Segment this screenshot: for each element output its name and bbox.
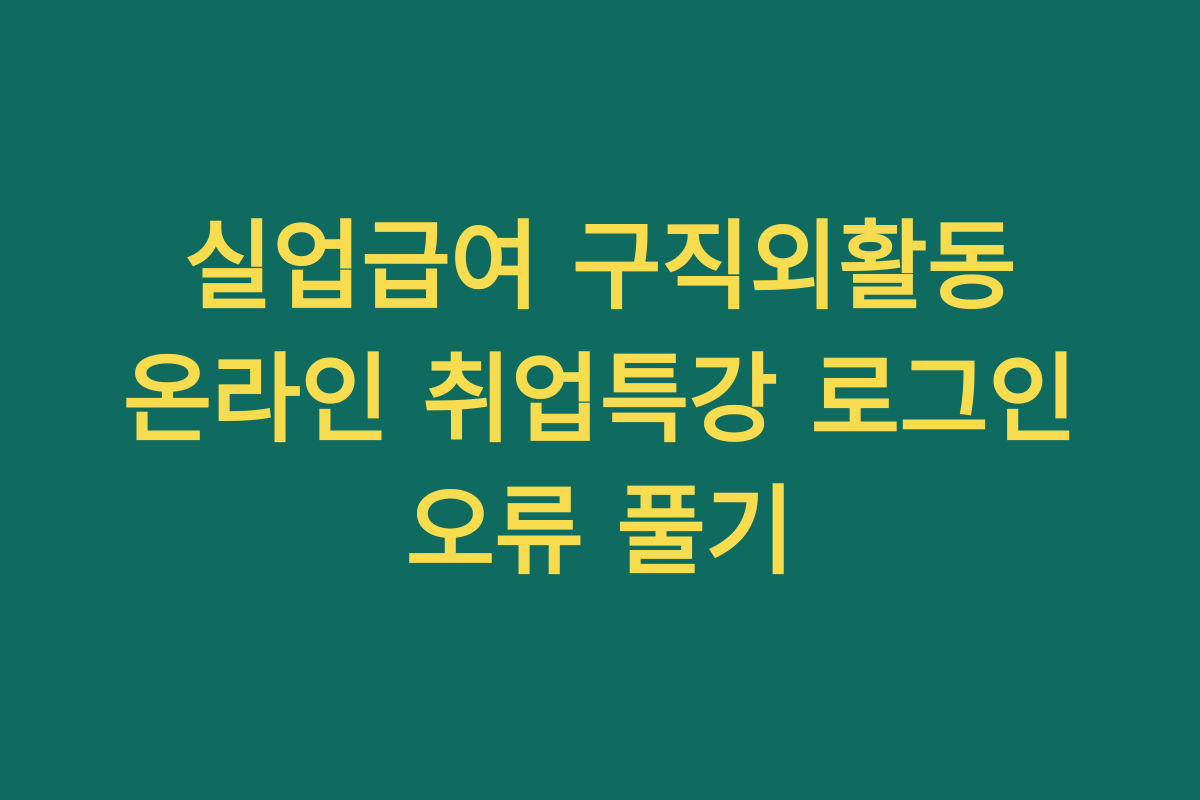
page-title: 실업급여 구직외활동 온라인 취업특강 로그인 오류 풀기	[82, 201, 1118, 600]
thumbnail-canvas: 실업급여 구직외활동 온라인 취업특강 로그인 오류 풀기	[0, 0, 1200, 800]
headline-block: 실업급여 구직외활동 온라인 취업특강 로그인 오류 풀기	[0, 201, 1200, 600]
